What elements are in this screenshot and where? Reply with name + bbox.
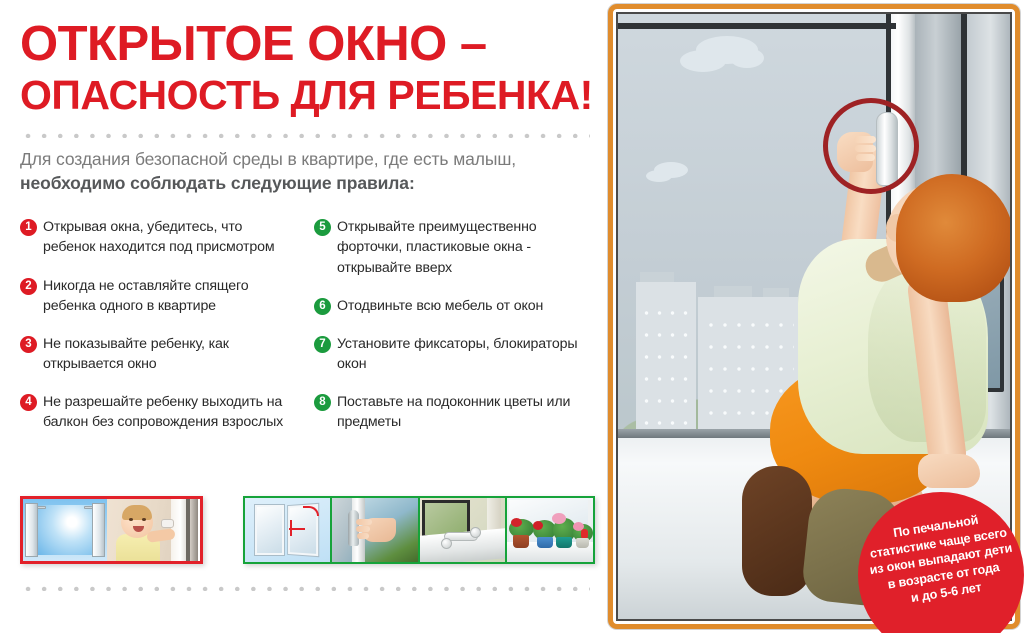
rule-number-badge: 7 (314, 336, 331, 353)
subtitle-block: Для создания безопасной среды в квартире… (20, 148, 590, 195)
baby-at-window-photo (107, 499, 198, 561)
sky-backdrop (36, 505, 94, 555)
hand-finger (356, 526, 370, 532)
restrictor-knob (470, 527, 481, 538)
photo-strip-green (243, 496, 595, 564)
rules-grid: 1 Открывая окна, убедитесь, что ребенок … (20, 217, 600, 450)
hand-on-window-handle-photo (330, 498, 418, 562)
window-sash-right (92, 503, 105, 557)
rule-item: 7 Установите фиксаторы, блокираторы окон (314, 334, 600, 374)
window-sash-left (25, 503, 38, 557)
restrictor-knob (441, 538, 452, 549)
baby-eye (142, 518, 146, 521)
window-handle-highlight-circle (823, 98, 919, 194)
dotted-divider-top (20, 130, 590, 138)
rule-item: 3 Не показывайте ребенку, как открываетс… (20, 334, 298, 374)
rule-item: 5 Открывайте преимущественно форточки, п… (314, 217, 600, 277)
photo-strips (20, 496, 595, 568)
rule-item: 4 Не разрешайте ребенку выходить на балк… (20, 392, 298, 432)
baby-eye (129, 518, 133, 521)
title-block: ОТКРЫТОЕ ОКНО – ОПАСНОСТЬ ДЛЯ РЕБЕНКА! (20, 20, 590, 116)
rule-number-badge: 2 (20, 278, 37, 295)
tilt-turn-window-diagram (245, 498, 330, 562)
poster-title-line-2: ОПАСНОСТЬ ДЛЯ РЕБЕНКА! (20, 75, 590, 116)
flower-pot (513, 535, 529, 548)
rule-item: 8 Поставьте на подоконник цветы или пред… (314, 392, 600, 432)
poster-title-line-1: ОТКРЫТОЕ ОКНО – (20, 20, 590, 69)
child-shoe-left (742, 466, 812, 596)
rule-text: Поставьте на подоконник цветы или предме… (337, 392, 600, 432)
rule-text: Открывайте преимущественно форточки, пла… (337, 217, 600, 277)
rule-text: Отодвиньте всю мебель от окон (337, 296, 543, 316)
rule-number-badge: 1 (20, 219, 37, 236)
rule-number-badge: 3 (20, 336, 37, 353)
arrow-side-icon (289, 528, 305, 530)
window-restrictor-lock-photo (418, 498, 505, 562)
window-handle-icon (84, 506, 93, 509)
dotted-divider-bottom (20, 583, 590, 591)
window-handle-icon (37, 506, 46, 509)
rule-text: Никогда не оставляйте спящего ребенка од… (43, 276, 298, 316)
hand-finger (356, 519, 372, 525)
hand-finger (357, 533, 369, 539)
flower-pot (576, 538, 589, 548)
flower-pot (537, 537, 553, 548)
child-hand-on-sill (918, 454, 980, 488)
door-panel (171, 499, 198, 561)
open-window-sky-photo (23, 499, 107, 561)
flower-bloom (533, 521, 543, 530)
rule-number-badge: 4 (20, 394, 37, 411)
subtitle-line-1: Для создания безопасной среды в квартире… (20, 148, 590, 171)
rule-text: Не разрешайте ребенку выходить на балкон… (43, 392, 298, 432)
rule-text: Не показывайте ребенку, как открывается … (43, 334, 298, 374)
rules-column-left: 1 Открывая окна, убедитесь, что ребенок … (20, 217, 310, 450)
flower-bloom (511, 518, 522, 527)
baby-hair (122, 505, 152, 520)
poster-root: ОТКРЫТОЕ ОКНО – ОПАСНОСТЬ ДЛЯ РЕБЕНКА! Д… (0, 0, 1024, 633)
door-edge (186, 499, 190, 561)
photo-strip-red (20, 496, 203, 564)
rule-number-badge: 5 (314, 219, 331, 236)
child-hair (896, 174, 1012, 302)
flowers-on-windowsill-photo (505, 498, 593, 562)
rule-item: 1 Открывая окна, убедитесь, что ребенок … (20, 217, 298, 257)
statistics-badge-text: По печальной статистике чаще всего из ок… (858, 506, 1024, 615)
rule-text: Открывая окна, убедитесь, что ребенок на… (43, 217, 298, 257)
rule-text: Установите фиксаторы, блокираторы окон (337, 334, 600, 374)
rule-item: 2 Никогда не оставляйте спящего ребенка … (20, 276, 298, 316)
rule-number-badge: 6 (314, 298, 331, 315)
flower-bloom (552, 513, 566, 524)
subtitle-line-2: необходимо соблюдать следующие правила: (20, 172, 590, 195)
rules-column-right: 5 Открывайте преимущественно форточки, п… (310, 217, 600, 450)
rule-item: 6 Отодвиньте всю мебель от окон (314, 296, 600, 316)
window-handle-icon (161, 519, 174, 528)
window-pane-fixed (255, 505, 284, 555)
rule-number-badge: 8 (314, 394, 331, 411)
flower-pot (556, 537, 572, 548)
